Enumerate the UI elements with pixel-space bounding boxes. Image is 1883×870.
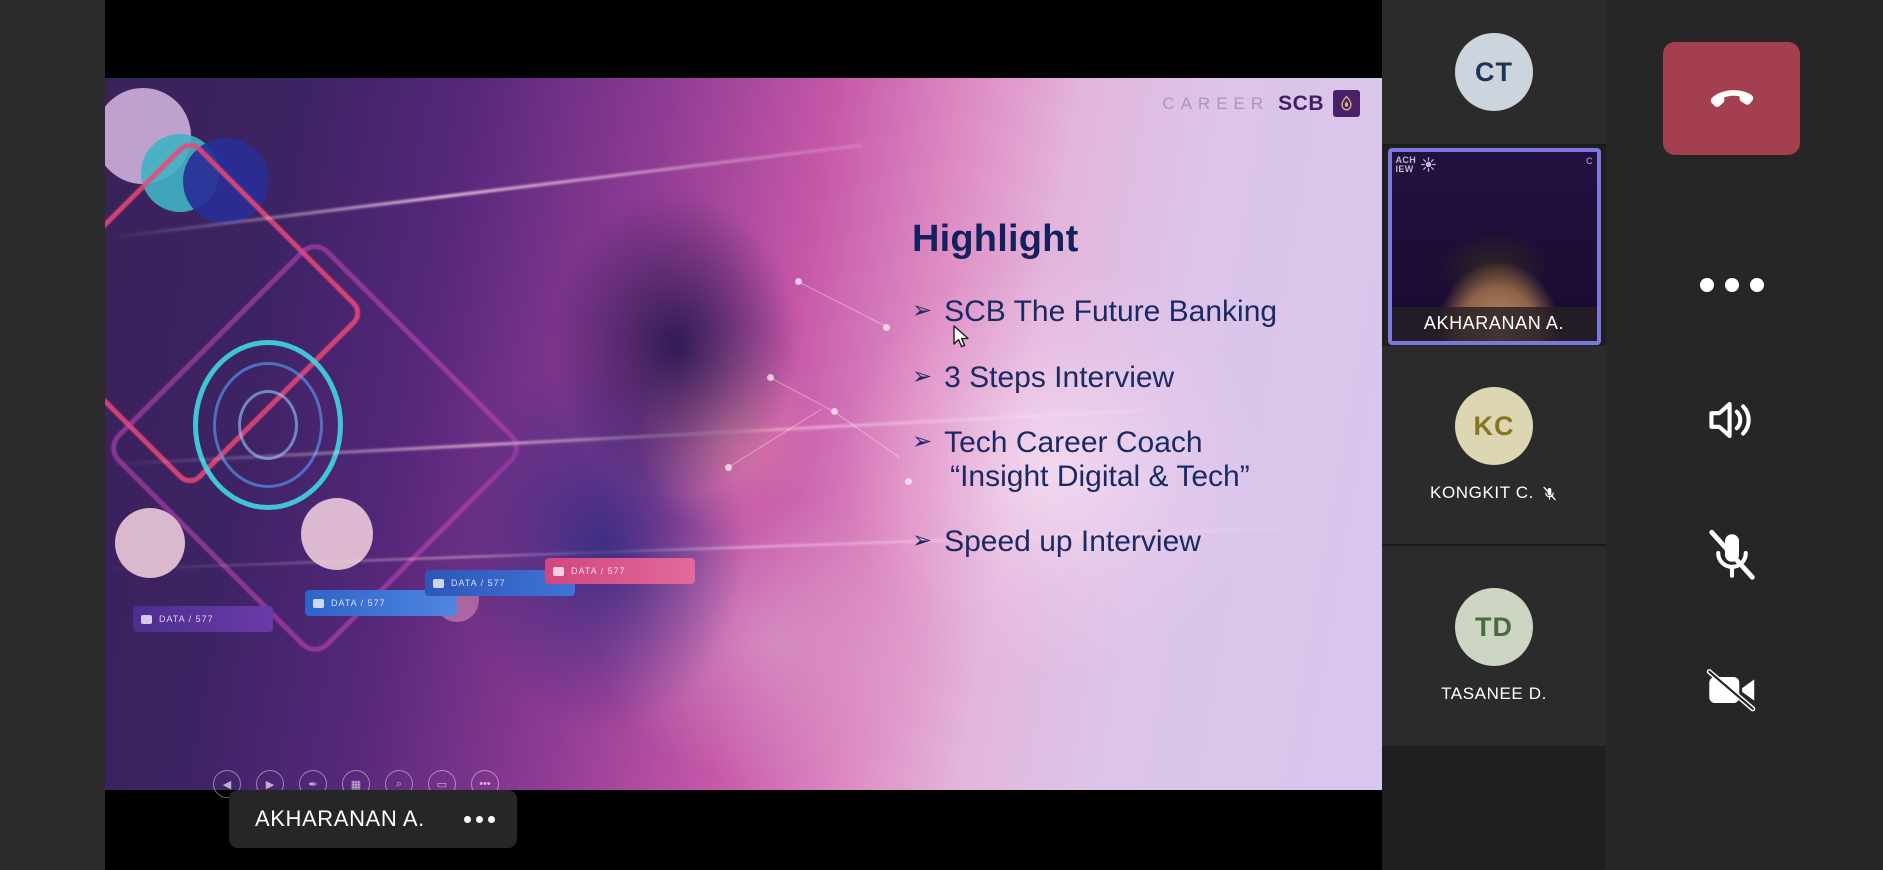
phone-hangup-icon [1704, 71, 1760, 127]
slide-bullet: ➢ 3 Steps Interview [912, 361, 1342, 395]
participant-tile-video[interactable]: ACH IEW C AKHARANAN A. [1382, 146, 1606, 346]
more-options-icon[interactable] [464, 816, 495, 823]
slide-bullet: ➢ SCB The Future Banking [912, 295, 1342, 329]
data-chip-icon [141, 615, 152, 624]
active-speaker-video[interactable]: ACH IEW C AKHARANAN A. [1388, 148, 1601, 345]
camera-off-icon [1703, 661, 1761, 719]
presentation-slide: DATA / 577 DATA / 577 DATA / 577 DATA / … [105, 78, 1382, 790]
bullet-text: 3 Steps Interview [944, 361, 1174, 394]
bullet-arrow-icon: ➢ [912, 525, 932, 556]
camera-button[interactable] [1663, 655, 1800, 725]
avatar: CT [1455, 33, 1533, 111]
participant-name-row: KONGKIT C. [1430, 483, 1558, 503]
slide-title: Highlight [912, 218, 1342, 261]
speaker-on-icon [1703, 391, 1761, 449]
graphic-data-label: DATA / 577 [545, 558, 695, 584]
slide-text-block: Highlight ➢ SCB The Future Banking ➢ 3 S… [912, 218, 1342, 591]
slide-bullet: ➢ Speed up Interview [912, 525, 1342, 559]
microphone-muted-icon [1541, 485, 1558, 502]
career-scb-logo: CAREER SCB [1162, 90, 1360, 117]
avatar-initials: CT [1475, 57, 1513, 88]
participant-tile-td[interactable]: TD TASANEE D. [1382, 546, 1606, 746]
participant-tile-kc[interactable]: KC KONGKIT C. [1382, 346, 1606, 546]
left-rail [0, 0, 105, 870]
presenter-name: AKHARANAN A. [255, 806, 425, 832]
data-chip-icon [313, 599, 324, 608]
meeting-screen: DATA / 577 DATA / 577 DATA / 577 DATA / … [0, 0, 1883, 870]
participants-panel: CT ACH IEW [1382, 0, 1606, 870]
avatar: TD [1455, 588, 1533, 666]
data-label-text: DATA / 577 [571, 566, 626, 576]
bullet-text: Speed up Interview [944, 525, 1201, 558]
bullet-arrow-icon: ➢ [912, 426, 932, 457]
scb-emblem-icon [1333, 90, 1360, 117]
participant-tile-ct[interactable]: CT [1382, 0, 1606, 146]
data-chip-icon [433, 579, 444, 588]
bullet-arrow-icon: ➢ [912, 361, 932, 392]
avatar-initials: KC [1474, 411, 1515, 442]
participant-name-row: TASANEE D. [1441, 684, 1547, 704]
bullet-text: SCB The Future Banking [944, 295, 1277, 328]
microphone-button[interactable] [1663, 520, 1800, 590]
video-watermark-right: C [1586, 156, 1593, 166]
bullet-text: Tech Career Coach [944, 426, 1202, 459]
avatar-initials: TD [1475, 612, 1513, 643]
bullet-arrow-icon: ➢ [912, 295, 932, 326]
microphone-muted-icon [1703, 526, 1761, 584]
presenter-name-pill[interactable]: AKHARANAN A. [229, 790, 517, 848]
arrow-cursor-icon [952, 325, 972, 351]
more-options-icon [1700, 278, 1764, 292]
avatar: KC [1455, 387, 1533, 465]
sun-icon [1420, 156, 1437, 173]
logo-career-text: CAREER [1162, 94, 1269, 114]
participant-name: AKHARANAN A. [1392, 307, 1597, 341]
participant-name: TASANEE D. [1441, 684, 1547, 704]
graphic-data-label: DATA / 577 [133, 606, 273, 632]
speaker-button[interactable] [1663, 385, 1800, 455]
logo-scb-text: SCB [1278, 92, 1324, 116]
slide-bullet: ➢ Tech Career Coach “Insight Digital & T… [912, 426, 1342, 493]
participant-name: KONGKIT C. [1430, 483, 1534, 503]
more-actions-button[interactable] [1663, 255, 1800, 315]
bullet-subtext: “Insight Digital & Tech” [944, 460, 1250, 494]
data-label-text: DATA / 577 [451, 578, 506, 588]
data-label-text: DATA / 577 [331, 598, 386, 608]
data-label-text: DATA / 577 [159, 614, 214, 624]
watermark-text: ACH IEW [1396, 156, 1417, 175]
video-watermark-left: ACH IEW [1396, 156, 1438, 175]
shared-content-stage[interactable]: DATA / 577 DATA / 577 DATA / 577 DATA / … [105, 0, 1382, 870]
call-controls-rail [1606, 0, 1883, 870]
hang-up-button[interactable] [1663, 42, 1800, 155]
data-chip-icon [553, 567, 564, 576]
